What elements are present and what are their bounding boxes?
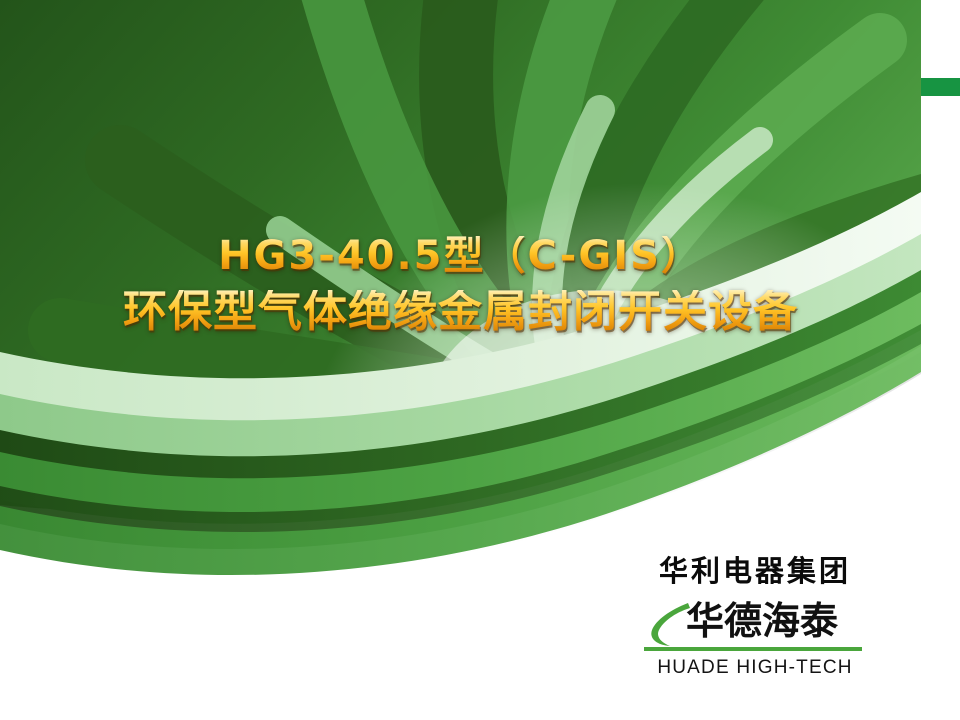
brand-name-english: HUADE HIGH-TECH [630, 657, 880, 679]
title-line-model: HG3-40.5型（C-GIS） [0, 236, 921, 276]
title-slide: HG3-40.5型（C-GIS） 环保型气体绝缘金属封闭开关设备 华利电器集团 … [0, 0, 960, 720]
company-logo: 华利电器集团 华德海泰 HUADE HIGH-TECH [630, 556, 880, 679]
brand-underline [644, 647, 862, 651]
page-title: HG3-40.5型（C-GIS） 环保型气体绝缘金属封闭开关设备 [0, 236, 921, 334]
company-name-chinese: 华利电器集团 [630, 556, 880, 586]
brand-swoosh-icon [648, 600, 692, 648]
title-line-description: 环保型气体绝缘金属封闭开关设备 [0, 290, 921, 334]
brand-mark: 华德海泰 [630, 602, 880, 648]
brand-name-chinese: 华德海泰 [686, 602, 838, 640]
accent-bar [921, 78, 960, 96]
